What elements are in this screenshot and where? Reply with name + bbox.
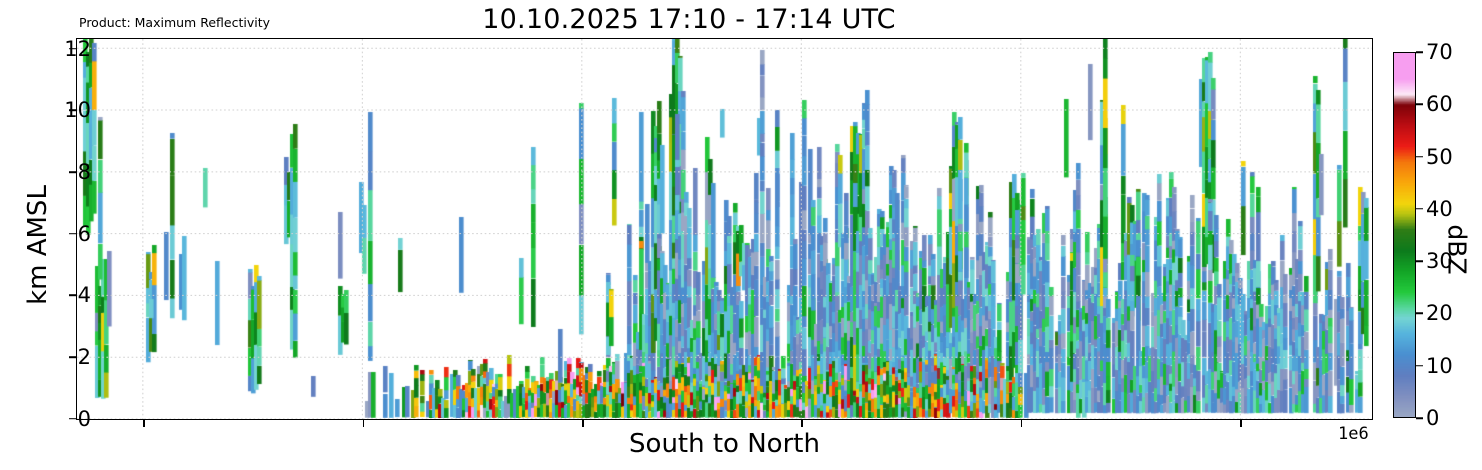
y-tick-label: 8 [78, 160, 91, 184]
gridlines [77, 39, 1372, 419]
colorbar-tick-label: 40 [1426, 197, 1453, 221]
y-tick-mark [69, 171, 76, 173]
colorbar-tick-label: 60 [1426, 92, 1453, 116]
x-tick-mark [363, 420, 365, 427]
colorbar-gradient [1394, 53, 1415, 417]
x-axis-label: South to North [76, 429, 1373, 459]
y-tick-label: 2 [78, 345, 91, 369]
y-tick-label: 0 [78, 407, 91, 431]
colorbar-tick-mark [1416, 313, 1423, 315]
colorbar-tick-label: 50 [1426, 145, 1453, 169]
x-axis-exponent-label: 1e6 [1338, 424, 1369, 444]
x-tick-mark [143, 420, 145, 427]
x-tick-mark [582, 420, 584, 427]
x-tick-mark [1240, 420, 1242, 427]
radar-cross-section-figure: 10.10.2025 17:10 - 17:14 UTC Product: Ma… [0, 0, 1482, 470]
y-tick-mark [69, 356, 76, 358]
y-tick-label: 12 [64, 37, 91, 61]
y-tick-mark [69, 233, 76, 235]
y-tick-mark [69, 418, 76, 420]
y-tick-label: 10 [64, 98, 91, 122]
y-tick-mark [69, 295, 76, 297]
colorbar-tick-mark [1416, 104, 1423, 106]
plot-area [76, 38, 1373, 420]
x-tick-mark [801, 420, 803, 427]
colorbar-tick-label: 20 [1426, 301, 1453, 325]
y-axis-label: km AMSL [23, 185, 53, 305]
colorbar-tick-mark [1416, 208, 1423, 210]
colorbar-tick-label: 70 [1426, 40, 1453, 64]
colorbar [1393, 52, 1416, 418]
colorbar-tick-mark [1416, 260, 1423, 262]
y-tick-label: 4 [78, 283, 91, 307]
product-annotation: Product: Maximum Reflectivity [79, 15, 270, 30]
x-tick-mark [1021, 420, 1023, 427]
colorbar-tick-label: 0 [1426, 406, 1439, 430]
y-tick-label: 6 [78, 222, 91, 246]
colorbar-tick-mark [1416, 365, 1423, 367]
colorbar-label: dBZ [1443, 224, 1472, 274]
colorbar-tick-mark [1416, 417, 1423, 419]
colorbar-tick-mark [1416, 156, 1423, 158]
colorbar-tick-label: 10 [1426, 354, 1453, 378]
colorbar-tick-mark [1416, 51, 1423, 53]
